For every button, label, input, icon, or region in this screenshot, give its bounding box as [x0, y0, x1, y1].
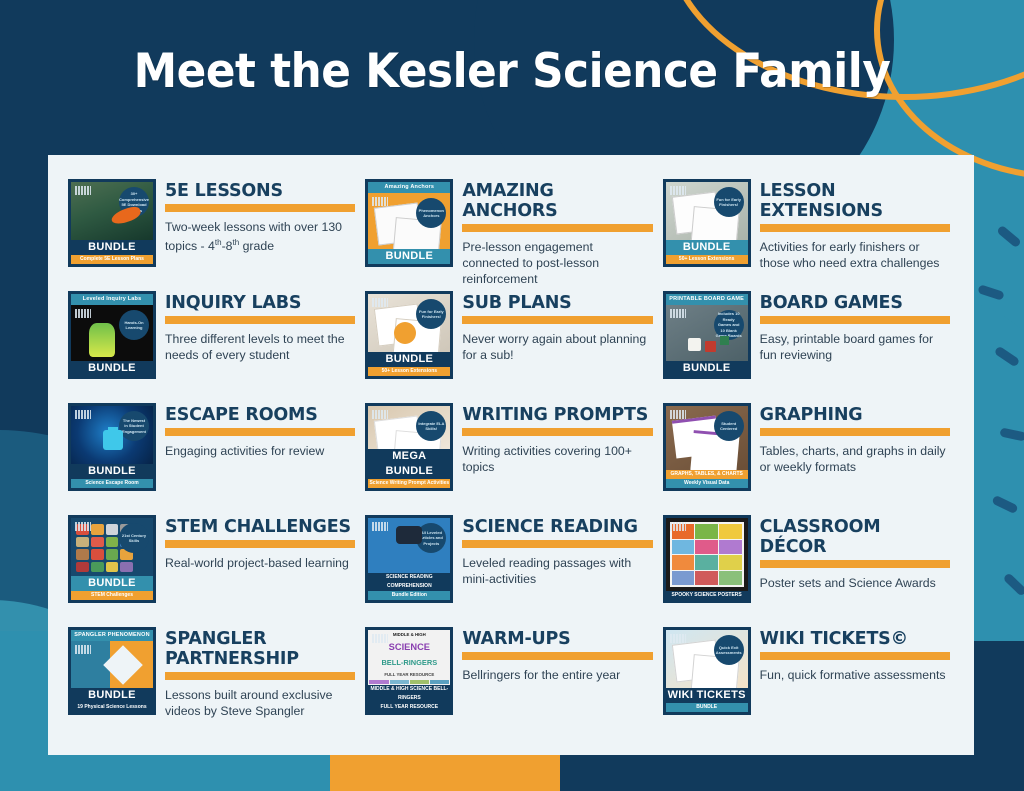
- orange-underline-rule: [462, 224, 652, 232]
- thumbnail-caption: BUNDLE: [368, 249, 450, 264]
- thumbnail-caption: BUNDLE: [666, 240, 748, 255]
- thumbnail-badge: Integrate ELA Skills!: [416, 411, 446, 441]
- thumbnail-caption: BUNDLE: [71, 240, 153, 255]
- product-description: Easy, printable board games for fun revi…: [760, 331, 950, 363]
- orange-underline-rule: [462, 652, 652, 660]
- poster-tile: [672, 540, 695, 555]
- stem-icon: [91, 524, 104, 535]
- thumbnail-caption: WIKI TICKETS: [666, 688, 748, 703]
- product-item[interactable]: All Leveled Articles and ProjectsSCIENCE…: [365, 515, 656, 627]
- product-text: INQUIRY LABSThree different levels to me…: [165, 291, 355, 363]
- thumbnail-artwork: [71, 641, 153, 688]
- orange-underline-rule: [462, 316, 652, 324]
- thumbnail-caption: MIDDLE & HIGH SCIENCE BELL-RINGERS: [368, 685, 450, 703]
- stem-icon: [76, 537, 89, 548]
- product-text: AMAZING ANCHORSPre-lesson engagement con…: [462, 179, 652, 287]
- stem-icon: [106, 537, 119, 548]
- poster-board: [670, 522, 744, 587]
- poster-tile: [695, 571, 718, 586]
- product-description: Writing activities covering 100+ topics: [462, 443, 652, 475]
- thumbnail-artwork: Integrate ELA Skills!: [368, 406, 450, 449]
- product-thumbnail[interactable]: Fun for Early Finishers!BUNDLE50+ Lesson…: [663, 179, 751, 267]
- poster-tile: [672, 571, 695, 586]
- bellringer-line: FULL YEAR RESOURCE: [368, 670, 450, 679]
- orange-underline-rule: [760, 224, 950, 232]
- product-description: Fun, quick formative assessments: [760, 667, 950, 683]
- product-text: STEM CHALLENGESReal-world project-based …: [165, 515, 355, 571]
- thumbnail-caption: BUNDLE: [71, 688, 153, 703]
- orange-underline-rule: [165, 672, 355, 680]
- thumbnail-badge: Hands-On Learning: [119, 310, 149, 340]
- stem-icon: [76, 562, 89, 573]
- thumbnail-artwork: Phenomenon Anchors: [368, 193, 450, 249]
- thumbnail-artwork: The Newest in Student Engagement: [71, 406, 153, 464]
- thumbnail-artwork: MIDDLE & HIGHSCIENCEBELL-RINGERSFULL YEA…: [368, 630, 450, 685]
- product-description: Two-week lessons with over 130 topics - …: [165, 219, 355, 254]
- poster-tile: [719, 555, 742, 570]
- thumbnail-artwork: Student Centered: [666, 406, 748, 470]
- product-description: Leveled reading passages with mini-activ…: [462, 555, 652, 587]
- product-description: Engaging activities for review: [165, 443, 355, 459]
- thumbnail-subcaption: Weekly Visual Data: [666, 479, 748, 488]
- stem-icon: [106, 562, 119, 573]
- product-item[interactable]: Leveled Inquiry LabsHands-On LearningBUN…: [68, 291, 359, 403]
- preview-tile: [430, 680, 449, 684]
- orange-underline-rule: [462, 428, 652, 436]
- kesler-logo-icon: [75, 410, 91, 419]
- product-description: Pre-lesson engagement connected to post-…: [462, 239, 652, 287]
- thumbnail-subcaption: STEM Challenges: [71, 591, 153, 600]
- product-text: BOARD GAMESEasy, printable board games f…: [760, 291, 950, 363]
- bellringer-preview-strip: [368, 679, 450, 685]
- product-description: Bellringers for the entire year: [462, 667, 652, 683]
- page-title: Meet the Kesler Science Family: [36, 44, 988, 99]
- thumbnail-artwork: [666, 518, 748, 591]
- orange-underline-rule: [165, 204, 355, 212]
- product-name: WARM-UPS: [462, 629, 652, 649]
- product-thumbnail[interactable]: MIDDLE & HIGHSCIENCEBELL-RINGERSFULL YEA…: [365, 627, 453, 715]
- kesler-logo-icon: [372, 298, 388, 307]
- product-name: SCIENCE READING: [462, 517, 652, 537]
- stem-icon: [106, 524, 119, 535]
- product-name: ESCAPE ROOMS: [165, 405, 355, 425]
- thumbnail-subcaption: 50+ Lesson Extensions: [666, 255, 748, 264]
- product-name: SUB PLANS: [462, 293, 652, 313]
- product-name: WIKI TICKETS©: [760, 629, 950, 649]
- kesler-logo-icon: [670, 309, 686, 318]
- product-thumbnail[interactable]: 21st Century SkillsBUNDLESTEM Challenges: [68, 515, 156, 603]
- stem-icon: [120, 562, 133, 573]
- thumbnail-subcaption: 19 Physical Science Lessons: [71, 703, 153, 712]
- product-thumbnail[interactable]: Student CenteredGRAPHS, TABLES, & CHARTS…: [663, 403, 751, 491]
- product-text: CLASSROOM DÉCORPoster sets and Science A…: [760, 515, 950, 591]
- kesler-logo-icon: [670, 522, 686, 531]
- product-text: WARM-UPSBellringers for the entire year: [462, 627, 652, 683]
- product-item[interactable]: Student CenteredGRAPHS, TABLES, & CHARTS…: [663, 403, 954, 515]
- product-thumbnail[interactable]: All Leveled Articles and ProjectsSCIENCE…: [365, 515, 453, 603]
- product-thumbnail[interactable]: Integrate ELA Skills!MEGA BUNDLEScience …: [365, 403, 453, 491]
- poster-tile: [719, 524, 742, 539]
- product-grid-panel: 30+ Comprehensive 5E Download LessonsBUN…: [48, 155, 974, 755]
- poster-tile: [719, 540, 742, 555]
- thumbnail-caption: BUNDLE: [368, 352, 450, 367]
- product-text: ESCAPE ROOMSEngaging activities for revi…: [165, 403, 355, 459]
- thumbnail-artwork: 30+ Comprehensive 5E Download Lessons: [71, 182, 153, 240]
- product-item[interactable]: Quick Exit AssessmentsWIKI TICKETSBUNDLE…: [663, 627, 954, 739]
- product-thumbnail[interactable]: Fun for Early Finishers!BUNDLE50+ Lesson…: [365, 291, 453, 379]
- orange-underline-rule: [760, 652, 950, 660]
- stem-icon: [91, 562, 104, 573]
- bellringer-line: BELL-RINGERS: [368, 656, 450, 670]
- thumbnail-badge: Phenomenon Anchors: [416, 198, 446, 228]
- orange-underline-rule: [760, 316, 950, 324]
- kesler-logo-icon: [670, 186, 686, 195]
- thumbnail-caption: BUNDLE: [71, 576, 153, 591]
- thumbnail-caption: MEGA BUNDLE: [368, 449, 450, 479]
- product-thumbnail[interactable]: Quick Exit AssessmentsWIKI TICKETSBUNDLE: [663, 627, 751, 715]
- thumbnail-topbar: SPANGLER PHENOMENON: [71, 630, 153, 641]
- product-text: 5E LESSONSTwo-week lessons with over 130…: [165, 179, 355, 254]
- product-thumbnail[interactable]: SPANGLER PHENOMENONBUNDLE19 Physical Sci…: [68, 627, 156, 715]
- product-name: LESSON EXTENSIONS: [760, 181, 950, 221]
- product-name: INQUIRY LABS: [165, 293, 355, 313]
- kesler-logo-icon: [75, 309, 91, 318]
- poster-tile: [695, 524, 718, 539]
- thumbnail-topbar: Leveled Inquiry Labs: [71, 294, 153, 305]
- product-item[interactable]: Integrate ELA Skills!MEGA BUNDLEScience …: [365, 403, 656, 515]
- thumbnail-caption: BUNDLE: [71, 361, 153, 376]
- product-description: Activities for early finishers or those …: [760, 239, 950, 271]
- product-text: GRAPHINGTables, charts, and graphs in da…: [760, 403, 950, 475]
- thumbnail-caption: BUNDLE: [71, 464, 153, 479]
- poster-tile: [719, 571, 742, 586]
- thumbnail-caption: SCIENCE READING COMPREHENSION: [368, 573, 450, 591]
- stem-icon: [91, 537, 104, 548]
- thumbnail-artwork: Quick Exit Assessments: [666, 630, 748, 688]
- product-description: Real-world project-based learning: [165, 555, 355, 571]
- product-name: 5E LESSONS: [165, 181, 355, 201]
- stem-icon: [106, 549, 119, 560]
- product-description: Tables, charts, and graphs in daily or w…: [760, 443, 950, 475]
- kesler-logo-icon: [75, 186, 91, 195]
- kesler-logo-icon: [372, 522, 388, 531]
- kesler-logo-icon: [75, 645, 91, 654]
- thumbnail-badge: Student Centered: [714, 411, 744, 441]
- product-thumbnail[interactable]: PRINTABLE BOARD GAMEIncludes 10 Ready Ga…: [663, 291, 751, 379]
- thumbnail-caption: SPOOKY SCIENCE POSTERS: [666, 591, 748, 600]
- thumbnail-badge: Fun for Early Finishers!: [714, 187, 744, 217]
- preview-tile: [410, 680, 429, 684]
- product-text: SCIENCE READINGLeveled reading passages …: [462, 515, 652, 587]
- product-item[interactable]: PRINTABLE BOARD GAMEIncludes 10 Ready Ga…: [663, 291, 954, 403]
- product-thumbnail[interactable]: The Newest in Student EngagementBUNDLESc…: [68, 403, 156, 491]
- thumbnail-artwork: Includes 10 Ready Games and 10 Blank Gam…: [666, 305, 748, 361]
- thumbnail-badge: 30+ Comprehensive 5E Download Lessons: [119, 187, 149, 217]
- product-description: Three different levels to meet the needs…: [165, 331, 355, 363]
- thumbnail-artwork: Fun for Early Finishers!: [368, 294, 450, 352]
- poster-tile: [672, 555, 695, 570]
- thumbnail-artwork: Hands-On Learning: [71, 305, 153, 361]
- thumbnail-caption: BUNDLE: [666, 361, 748, 376]
- thumbnail-topbar: Amazing Anchors: [368, 182, 450, 193]
- product-item[interactable]: SPANGLER PHENOMENONBUNDLE19 Physical Sci…: [68, 627, 359, 739]
- thumbnail-subcaption: Science Writing Prompt Activities: [368, 479, 450, 488]
- kesler-logo-icon: [670, 634, 686, 643]
- orange-underline-rule: [165, 316, 355, 324]
- preview-tile: [390, 680, 409, 684]
- thumbnail-subcaption: Bundle Edition: [368, 591, 450, 600]
- product-description: Never worry again about planning for a s…: [462, 331, 652, 363]
- orange-underline-rule: [165, 428, 355, 436]
- product-description: Lessons built around exclusive videos by…: [165, 687, 355, 719]
- product-name: BOARD GAMES: [760, 293, 950, 313]
- thumbnail-caption: GRAPHS, TABLES, & CHARTS: [666, 470, 748, 479]
- thumbnail-artwork: Fun for Early Finishers!: [666, 182, 748, 240]
- product-thumbnail[interactable]: 30+ Comprehensive 5E Download LessonsBUN…: [68, 179, 156, 267]
- orange-underline-rule: [760, 428, 950, 436]
- product-name: WRITING PROMPTS: [462, 405, 652, 425]
- product-description: Poster sets and Science Awards: [760, 575, 950, 591]
- product-item[interactable]: Amazing AnchorsPhenomenon AnchorsBUNDLEA…: [365, 179, 656, 291]
- thumbnail-badge: Includes 10 Ready Games and 10 Blank Gam…: [714, 310, 744, 340]
- thumbnail-subcaption: FULL YEAR RESOURCE: [368, 703, 450, 712]
- kesler-logo-icon: [670, 410, 686, 419]
- thumbnail-badge: All Leveled Articles and Projects: [416, 523, 446, 553]
- product-text: WIKI TICKETS©Fun, quick formative assess…: [760, 627, 950, 683]
- poster-tile: [695, 555, 718, 570]
- thumbnail-subcaption: 50+ Lesson Extensions: [368, 367, 450, 376]
- product-text: SPANGLER PARTNERSHIPLessons built around…: [165, 627, 355, 719]
- product-item[interactable]: The Newest in Student EngagementBUNDLESc…: [68, 403, 359, 515]
- kesler-logo-icon: [75, 522, 91, 531]
- product-name: GRAPHING: [760, 405, 950, 425]
- product-item[interactable]: 21st Century SkillsBUNDLESTEM Challenges…: [68, 515, 359, 627]
- thumbnail-subcaption: Complete 5E Lesson Plans: [71, 255, 153, 264]
- product-name: STEM CHALLENGES: [165, 517, 355, 537]
- thumbnail-badge: Fun for Early Finishers!: [416, 299, 446, 329]
- product-item[interactable]: Fun for Early Finishers!BUNDLE50+ Lesson…: [365, 291, 656, 403]
- thumbnail-badge: Quick Exit Assessments: [714, 635, 744, 665]
- product-name: SPANGLER PARTNERSHIP: [165, 629, 355, 669]
- thumbnail-artwork: 21st Century Skills: [71, 518, 153, 576]
- product-text: WRITING PROMPTSWriting activities coveri…: [462, 403, 652, 475]
- poster-tile: [695, 540, 718, 555]
- orange-underline-rule: [760, 560, 950, 568]
- product-item[interactable]: 30+ Comprehensive 5E Download LessonsBUN…: [68, 179, 359, 291]
- product-name: CLASSROOM DÉCOR: [760, 517, 950, 557]
- product-text: LESSON EXTENSIONSActivities for early fi…: [760, 179, 950, 271]
- thumbnail-topbar: PRINTABLE BOARD GAME: [666, 294, 748, 305]
- orange-underline-rule: [462, 540, 652, 548]
- product-name: AMAZING ANCHORS: [462, 181, 652, 221]
- product-thumbnail[interactable]: Leveled Inquiry LabsHands-On LearningBUN…: [68, 291, 156, 379]
- preview-tile: [369, 680, 388, 684]
- product-text: SUB PLANSNever worry again about plannin…: [462, 291, 652, 363]
- product-thumbnail[interactable]: Amazing AnchorsPhenomenon AnchorsBUNDLE: [365, 179, 453, 267]
- kesler-logo-icon: [372, 634, 388, 643]
- orange-underline-rule: [165, 540, 355, 548]
- thumbnail-badge: The Newest in Student Engagement: [119, 411, 149, 441]
- stem-icon: [76, 549, 89, 560]
- product-thumbnail[interactable]: SPOOKY SCIENCE POSTERS: [663, 515, 751, 603]
- thumbnail-subcaption: Science Escape Room: [71, 479, 153, 488]
- thumbnail-badge: 21st Century Skills: [119, 523, 149, 553]
- kesler-logo-icon: [372, 410, 388, 419]
- product-item[interactable]: SPOOKY SCIENCE POSTERSCLASSROOM DÉCORPos…: [663, 515, 954, 627]
- thumbnail-artwork: All Leveled Articles and Projects: [368, 518, 450, 573]
- stem-icon: [91, 549, 104, 560]
- thumbnail-subcaption: BUNDLE: [666, 703, 748, 712]
- product-item[interactable]: Fun for Early Finishers!BUNDLE50+ Lesson…: [663, 179, 954, 291]
- product-item[interactable]: MIDDLE & HIGHSCIENCEBELL-RINGERSFULL YEA…: [365, 627, 656, 739]
- kesler-logo-icon: [372, 197, 388, 206]
